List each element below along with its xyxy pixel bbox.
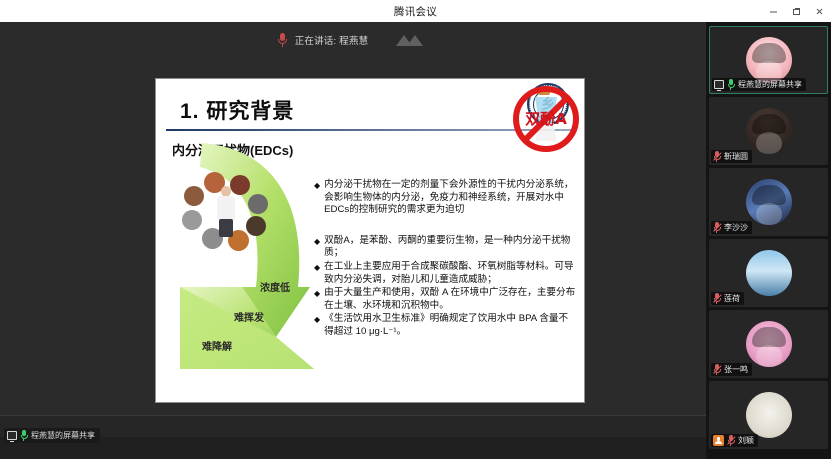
window-title: 腾讯会议 — [394, 4, 437, 19]
mic-icon — [20, 430, 28, 441]
taskbar-chip-label: 程燕慧的屏幕共享 — [31, 430, 95, 441]
speaking-indicator: 正在讲话: 程燕慧 — [0, 28, 706, 52]
avatar — [746, 321, 792, 367]
wave-icon — [396, 35, 429, 46]
avatar — [746, 179, 792, 225]
arrow-label-2: 难降解 — [202, 338, 232, 353]
green-arrow-diagram: 浓度低 难挥发 难降解 — [164, 137, 319, 382]
shared-screen-slide[interactable]: 乡 1. 研究背景 内分泌干扰物(EDCs) — [155, 78, 585, 403]
arrow-label-1: 难挥发 — [234, 309, 264, 324]
participant-tile-4[interactable]: 张一鸣 — [709, 310, 828, 378]
participant-footer: 刘颖 — [711, 434, 758, 447]
tencent-meeting-window: 腾讯会议 — [0, 0, 831, 459]
avatar — [746, 250, 792, 296]
screen-share-icon — [7, 431, 17, 440]
window-titlebar: 腾讯会议 — [0, 0, 831, 22]
participant-tile-0[interactable]: 程燕慧的屏幕共享 — [709, 26, 828, 94]
participant-tile-3[interactable]: 莲荷 — [709, 239, 828, 307]
mic-muted-icon — [713, 222, 721, 233]
participant-tile-2[interactable]: 李沙沙 — [709, 168, 828, 236]
taskbar-screen-share-chip[interactable]: 程燕慧的屏幕共享 — [4, 428, 100, 443]
participant-name: 张一鸣 — [724, 364, 748, 375]
window-controls — [762, 0, 831, 22]
participant-footer: 程燕慧的屏幕共享 — [712, 78, 806, 91]
speaking-label: 正在讲话: 程燕慧 — [295, 33, 369, 47]
bullet-item: ◆ 双酚A，是苯酚、丙酮的重要衍生物，是一种内分泌干扰物质； — [314, 235, 576, 260]
exposure-sources-illustration — [182, 172, 270, 252]
bullet-group-0: ◆ 内分泌干扰物在一定的剂量下会外源性的干扰内分泌系统，会影响生物体的内分泌，免… — [314, 179, 576, 217]
participant-tile-1[interactable]: 靳瑞圆 — [709, 97, 828, 165]
screen-share-icon — [714, 80, 724, 89]
bullet-item: ◆ 由于大量生产和使用，双酚 A 在环境中广泛存在，主要分布在土壤、水环境和沉积… — [314, 287, 576, 312]
participant-name: 程燕慧的屏幕共享 — [738, 79, 802, 90]
bpa-sign-label: 双酚A — [525, 110, 567, 128]
windows-taskbar: 程燕慧的屏幕共享 — [0, 415, 706, 437]
participant-footer: 莲荷 — [711, 292, 744, 305]
mic-muted-icon — [713, 293, 721, 304]
bullet-item: ◆ 在工业上主要应用于合成聚碳酸酯、环氧树脂等材料。可导致内分泌失调，对胎儿和儿… — [314, 261, 576, 286]
avatar — [746, 37, 792, 83]
participant-tile-5[interactable]: 刘颖 — [709, 381, 828, 449]
participant-name: 刘颖 — [738, 435, 754, 446]
mic-icon — [277, 33, 288, 47]
diamond-bullet-icon: ◆ — [314, 287, 320, 312]
participant-footer: 张一鸣 — [711, 363, 752, 376]
avatar — [746, 108, 792, 154]
participant-rail[interactable]: 程燕慧的屏幕共享 靳瑞圆 李沙沙 — [706, 22, 831, 459]
maximize-button[interactable] — [785, 0, 808, 22]
bpa-prohibition-icon: 双酚A — [510, 83, 582, 155]
arrow-label-0: 浓度低 — [260, 279, 290, 294]
diamond-bullet-icon: ◆ — [314, 313, 320, 338]
minimize-button[interactable] — [762, 0, 785, 22]
avatar — [746, 392, 792, 438]
diamond-bullet-icon: ◆ — [314, 261, 320, 286]
close-button[interactable] — [808, 0, 831, 22]
bullet-group-1: ◆ 双酚A，是苯酚、丙酮的重要衍生物，是一种内分泌干扰物质； ◆ 在工业上主要应… — [314, 235, 576, 339]
participant-name: 莲荷 — [724, 293, 740, 304]
diamond-bullet-icon: ◆ — [314, 235, 320, 260]
bullet-item: ◆ 内分泌干扰物在一定的剂量下会外源性的干扰内分泌系统，会影响生物体的内分泌，免… — [314, 179, 576, 217]
participant-name: 李沙沙 — [724, 222, 748, 233]
participant-name: 靳瑞圆 — [724, 151, 748, 162]
mic-muted-icon — [713, 151, 721, 162]
mic-muted-icon — [713, 364, 721, 375]
slide-bullets: ◆ 内分泌干扰物在一定的剂量下会外源性的干扰内分泌系统，会影响生物体的内分泌，免… — [314, 179, 576, 346]
participant-footer: 李沙沙 — [711, 221, 752, 234]
mic-icon — [727, 79, 735, 90]
host-badge-icon — [713, 435, 724, 446]
participant-footer: 靳瑞圆 — [711, 150, 752, 163]
diamond-bullet-icon: ◆ — [314, 179, 320, 217]
bullet-item: ◆ 《生活饮用水卫生标准》明确规定了饮用水中 BPA 含量不得超过 10 μg·… — [314, 313, 576, 338]
mic-muted-icon — [727, 435, 735, 446]
